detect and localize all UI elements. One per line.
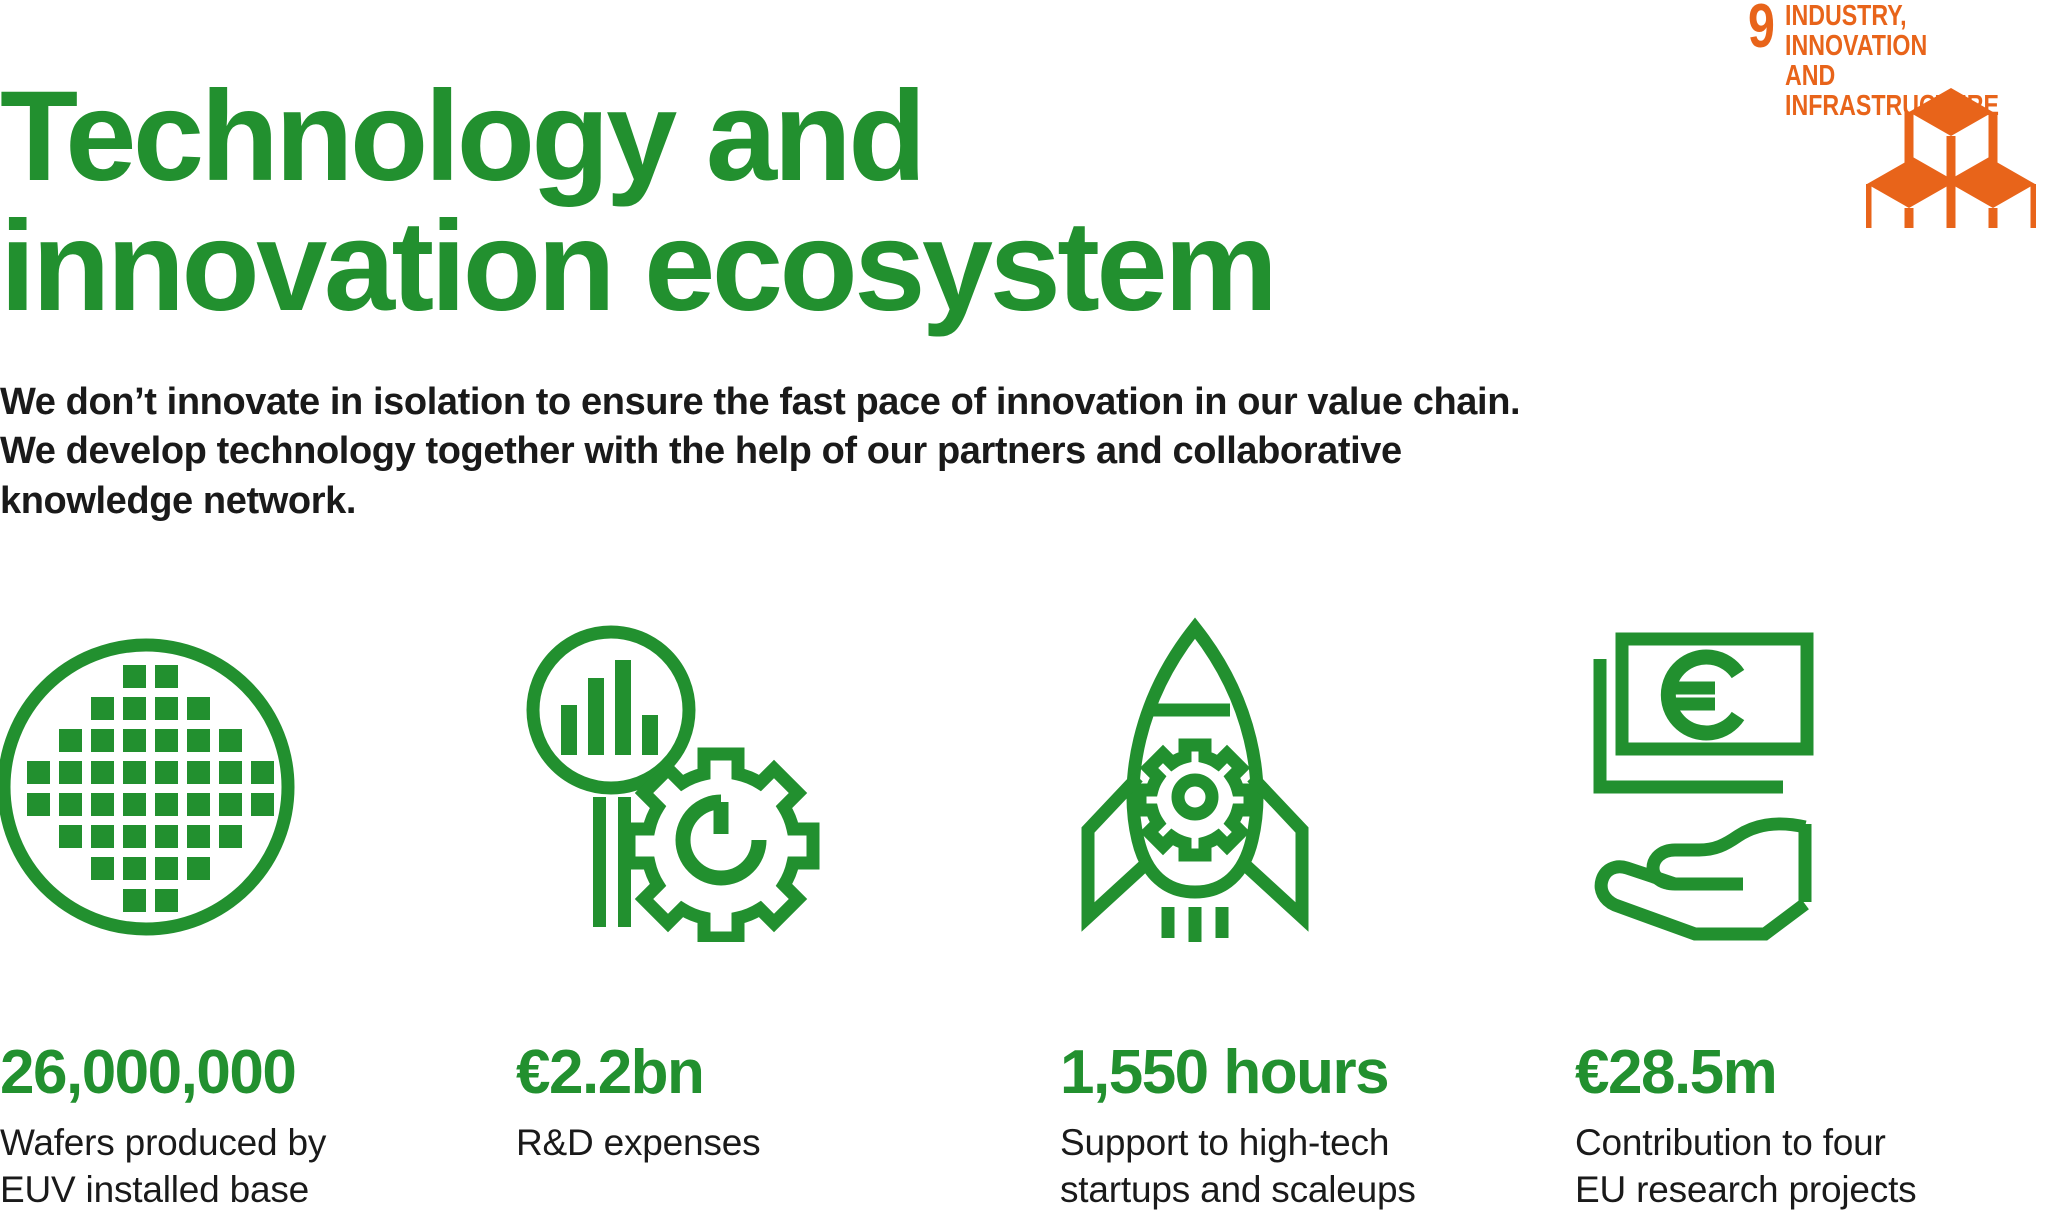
stat-label-line-1: Support to high-tech <box>1060 1120 1416 1167</box>
magnifier-chart-gear-icon <box>516 612 826 952</box>
stat-card-wafers: 26,000,000 Wafers produced by EUV instal… <box>0 612 520 1204</box>
intro-line-2: We develop technology together with the … <box>0 427 1860 476</box>
stat-label: Support to high-tech startups and scaleu… <box>1060 1120 1416 1213</box>
stat-label: Wafers produced by EUV installed base <box>0 1120 326 1213</box>
stat-label-line-2: EUV installed base <box>0 1167 326 1213</box>
page-title: Technology and innovation ecosystem <box>0 72 1700 333</box>
stat-label-line-1: R&D expenses <box>516 1120 760 1167</box>
page-title-line-1: Technology and <box>0 65 923 208</box>
stat-card-eu-projects: €28.5m Contribution to four EU research … <box>1575 612 2068 1204</box>
stat-label-line-2: startups and scaleups <box>1060 1167 1416 1213</box>
stat-card-startups: 1,550 hours Support to high-tech startup… <box>1060 612 1580 1204</box>
euro-banknote-hand-icon <box>1575 612 1845 952</box>
stat-label-line-1: Wafers produced by <box>0 1120 326 1167</box>
wafer-icon <box>0 612 300 952</box>
stats-row: 26,000,000 Wafers produced by EUV instal… <box>0 612 2068 1204</box>
intro-paragraph: We don’t innovate in isolation to ensure… <box>0 378 1860 526</box>
stat-card-rnd: €2.2bn R&D expenses <box>516 612 1036 1204</box>
sdg-title-line-1: INDUSTRY, INNOVATION <box>1785 2 2012 62</box>
stat-value: €28.5m <box>1575 1042 1776 1104</box>
sdg-number: 9 <box>1748 2 1773 53</box>
stat-value: 1,550 hours <box>1060 1042 1388 1104</box>
stacked-cubes-icon <box>1866 78 2036 228</box>
stat-label-line-2: EU research projects <box>1575 1167 1916 1213</box>
page-title-line-2: innovation ecosystem <box>0 195 1274 338</box>
stat-value: 26,000,000 <box>0 1042 295 1104</box>
stat-value: €2.2bn <box>516 1042 703 1104</box>
stat-label-line-1: Contribution to four <box>1575 1120 1916 1167</box>
stat-label: R&D expenses <box>516 1120 760 1167</box>
rocket-gear-icon <box>1060 612 1330 952</box>
intro-line-1: We don’t innovate in isolation to ensure… <box>0 378 1860 427</box>
sdg-badge: 9 INDUSTRY, INNOVATION AND INFRASTRUCTUR… <box>1748 0 2068 300</box>
stat-label: Contribution to four EU research project… <box>1575 1120 1916 1213</box>
intro-line-3: knowledge network. <box>0 477 1860 526</box>
